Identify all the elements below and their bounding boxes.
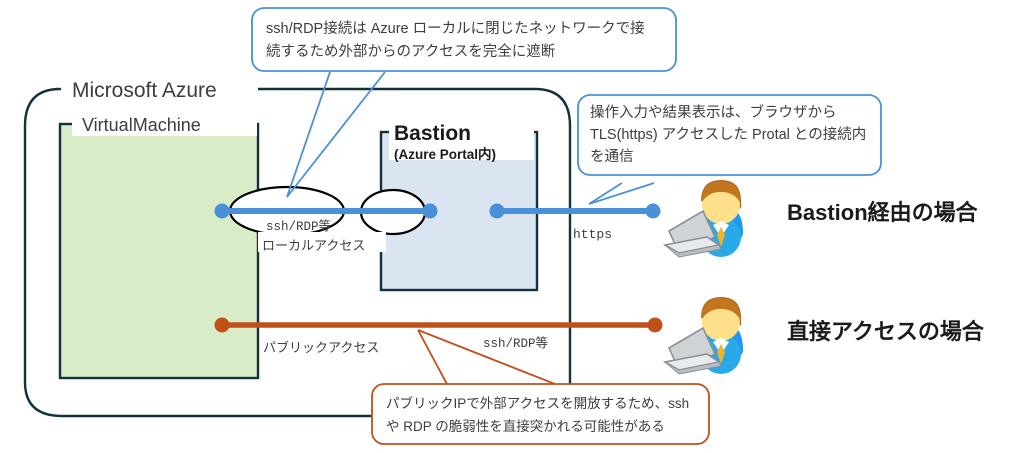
user-laptop-icon-bastion	[665, 180, 743, 257]
user-laptop-icon-direct	[665, 297, 743, 374]
user-icons	[0, 0, 1015, 453]
diagram-canvas: ssh/RDP接続は Azure ローカルに閉じたネットワークで接 続するため外…	[0, 0, 1015, 453]
